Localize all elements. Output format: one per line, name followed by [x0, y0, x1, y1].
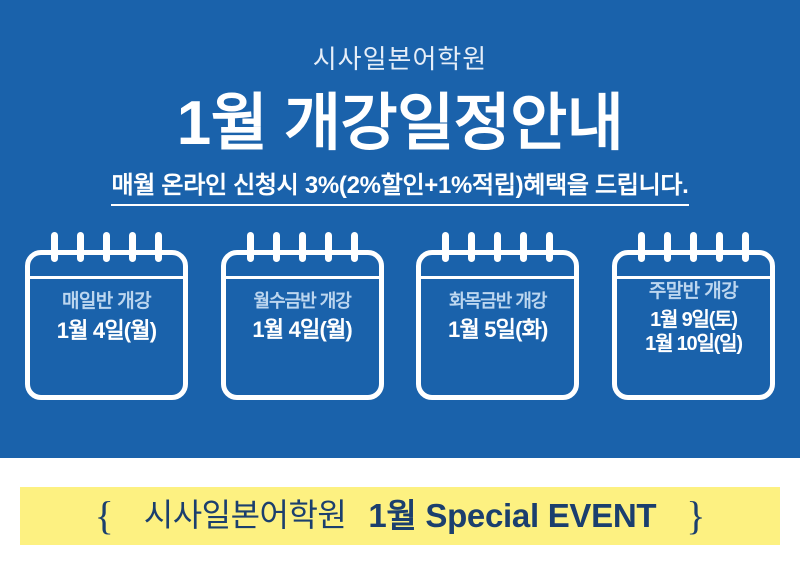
brace-close-icon: } [680, 496, 711, 536]
calendar-ring-icon [273, 232, 280, 262]
brand-label: 시사일본어학원 [0, 44, 800, 75]
schedule-card-row: 매일반 개강 1월 4일(월) 월수금반 개강 1월 4일(월) [25, 232, 775, 402]
calendar-ring-icon [77, 232, 84, 262]
schedule-card-text: 주말반 개강 1월 9일(토) 1월 10일(일) [612, 280, 775, 357]
calendar-ring-icon [690, 232, 697, 262]
subtitle-text: 매월 온라인 신청시 3%(2%할인+1%적립)혜택을 드립니다. [111, 172, 688, 206]
schedule-card: 주말반 개강 1월 9일(토) 1월 10일(일) [612, 232, 775, 400]
calendar-binding-rings-icon [416, 232, 579, 262]
calendar-ring-icon [742, 232, 749, 262]
calendar-ring-icon [155, 232, 162, 262]
calendar-ring-icon [129, 232, 136, 262]
subtitle: 매월 온라인 신청시 3%(2%할인+1%적립)혜택을 드립니다. [0, 172, 800, 206]
calendar-ring-icon [638, 232, 645, 262]
schedule-card-dates: 1월 4일(월) [224, 317, 381, 344]
schedule-card-date: 1월 4일(월) [224, 317, 381, 344]
calendar-ring-icon [468, 232, 475, 262]
schedule-card-dates: 1월 4일(월) [28, 318, 185, 345]
event-banner: { 시사일본어학원 1월 Special EVENT } [20, 487, 780, 545]
schedule-card: 화목금반 개강 1월 5일(화) [416, 232, 579, 400]
schedule-card-dates: 1월 9일(토) 1월 10일(일) [615, 308, 772, 357]
schedule-card: 매일반 개강 1월 4일(월) [25, 232, 188, 400]
calendar-binding-rings-icon [221, 232, 384, 262]
calendar-ring-icon [716, 232, 723, 262]
schedule-card-class-name: 주말반 개강 [615, 280, 772, 304]
calendar-ring-icon [442, 232, 449, 262]
calendar-ring-icon [51, 232, 58, 262]
calendar-header-divider [30, 276, 183, 279]
schedule-card-text: 매일반 개강 1월 4일(월) [25, 290, 188, 345]
schedule-card-date: 1월 4일(월) [28, 318, 185, 345]
schedule-card-text: 화목금반 개강 1월 5일(화) [416, 290, 579, 343]
schedule-card-date: 1월 9일(토) [615, 308, 772, 332]
calendar-header-divider [226, 276, 379, 279]
calendar-ring-icon [351, 232, 358, 262]
calendar-header-divider [421, 276, 574, 279]
calendar-ring-icon [520, 232, 527, 262]
schedule-card-class-name: 매일반 개강 [28, 290, 185, 314]
brace-open-icon: { [89, 496, 120, 536]
schedule-card-class-name: 월수금반 개강 [224, 290, 381, 313]
calendar-binding-rings-icon [25, 232, 188, 262]
calendar-ring-icon [299, 232, 306, 262]
schedule-card-date: 1월 5일(화) [419, 317, 576, 344]
calendar-ring-icon [664, 232, 671, 262]
page-title: 1월 개강일정안내 [0, 88, 800, 159]
calendar-binding-rings-icon [612, 232, 775, 262]
event-banner-title: 1월 Special EVENT [368, 498, 680, 534]
calendar-header-divider [617, 276, 770, 279]
schedule-card-date: 1월 10일(일) [615, 332, 772, 356]
event-banner-brand: 시사일본어학원 [120, 498, 369, 533]
hero-panel: 시사일본어학원 1월 개강일정안내 매월 온라인 신청시 3%(2%할인+1%적… [0, 0, 800, 458]
calendar-ring-icon [494, 232, 501, 262]
calendar-ring-icon [103, 232, 110, 262]
calendar-ring-icon [325, 232, 332, 262]
event-banner-row: { 시사일본어학원 1월 Special EVENT } [89, 496, 712, 536]
schedule-card-dates: 1월 5일(화) [419, 317, 576, 344]
calendar-ring-icon [247, 232, 254, 262]
calendar-ring-icon [546, 232, 553, 262]
schedule-card: 월수금반 개강 1월 4일(월) [221, 232, 384, 400]
schedule-card-text: 월수금반 개강 1월 4일(월) [221, 290, 384, 343]
schedule-card-class-name: 화목금반 개강 [419, 290, 576, 313]
